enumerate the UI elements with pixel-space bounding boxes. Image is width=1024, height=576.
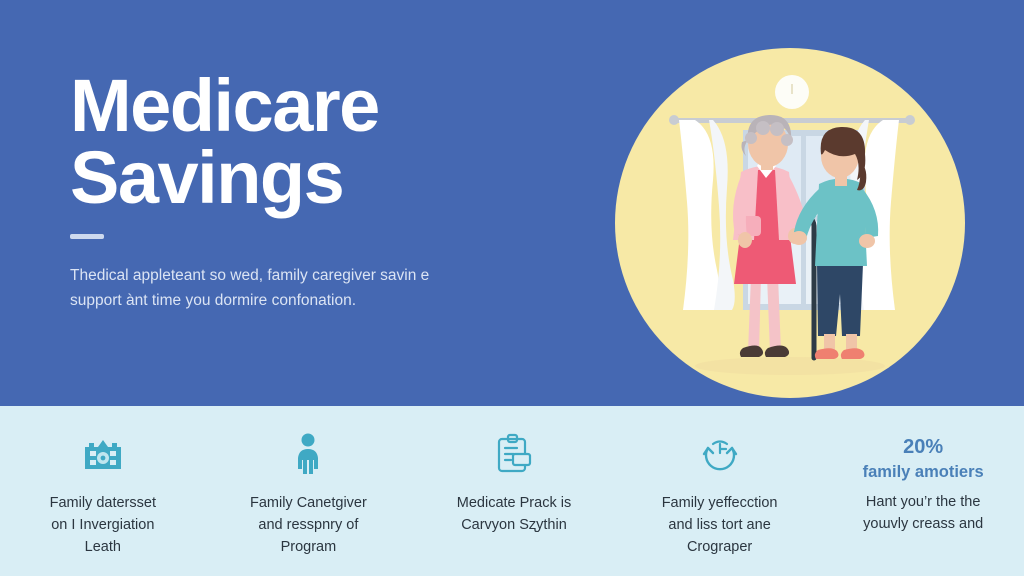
feature-label: Family Canetgiver and resspnry of Progra… (250, 492, 367, 558)
stat-value: 20% (903, 436, 943, 458)
clipboard-card-icon (495, 432, 533, 476)
page-title: Medicare Savings (70, 70, 590, 214)
feature-label: Family datersset on I Invergiation Leath (50, 492, 156, 558)
feature-item-3[interactable]: Medicate Prack is Carvyon Sʐythin (411, 432, 617, 536)
cycle-arrows-icon (700, 432, 740, 476)
feature-band: Family datersset on I Invergiation Leath… (0, 406, 1024, 576)
hero-illustration (615, 48, 965, 398)
feature-label: Medicate Prack is Carvyon Sʐythin (457, 492, 571, 536)
hero-text-block: Medicare Savings Thedical appleteant so … (70, 70, 590, 313)
title-underline-accent (70, 234, 104, 239)
feature-item-2[interactable]: Family Canetgiver and resspnry of Progra… (206, 432, 412, 558)
stat-note: Hant you’r the the yoɯvly creass and (863, 491, 983, 535)
feature-label: Family yeffecction and liss tort ane Cro… (662, 492, 778, 558)
hero-section: Medicare Savings Thedical appleteant so … (0, 0, 1024, 406)
person-icon (293, 432, 323, 476)
hero-subtitle: Thedical appleteant so wed, family careg… (70, 263, 520, 313)
feature-item-1[interactable]: Family datersset on I Invergiation Leath (0, 432, 206, 558)
stat-caption: family amotiers (863, 462, 984, 483)
caregiver-illustration-svg (615, 48, 965, 398)
hospital-building-icon (81, 432, 125, 476)
feature-item-4[interactable]: Family yeffecction and liss tort ane Cro… (617, 432, 823, 558)
stat-item: 20% family amotiers Hant you’r the the y… (822, 432, 1024, 536)
